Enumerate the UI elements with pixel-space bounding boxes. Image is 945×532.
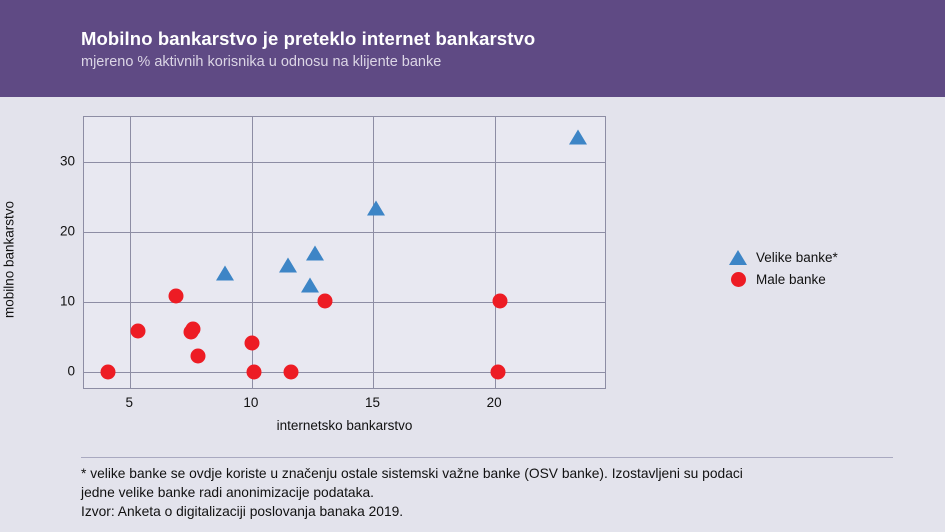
- gridline-horizontal: [84, 162, 605, 163]
- plot-area: [83, 116, 606, 389]
- data-point: [247, 364, 262, 379]
- data-point: [186, 321, 201, 336]
- data-point: [492, 294, 507, 309]
- legend-label-large-banks: Velike banke*: [756, 250, 838, 265]
- footnote-line-3: Izvor: Anketa o digitalizaciji poslovanj…: [81, 502, 881, 521]
- data-point: [301, 277, 319, 292]
- circle-marker-icon: [727, 272, 749, 287]
- gridline-horizontal: [84, 302, 605, 303]
- footnote-divider: [81, 457, 893, 458]
- gridline-vertical: [495, 117, 496, 388]
- triangle-marker-icon: [727, 250, 749, 265]
- data-point: [279, 258, 297, 273]
- gridline-horizontal: [84, 372, 605, 373]
- legend-label-small-banks: Male banke: [756, 272, 826, 287]
- data-point: [569, 130, 587, 145]
- data-point: [317, 294, 332, 309]
- footnote-line-2: jedne velike banke radi anonimizacije po…: [81, 483, 881, 502]
- chart-container: mobilno bankarstvo internetsko bankarstv…: [83, 116, 606, 389]
- data-point: [216, 265, 234, 280]
- data-point: [283, 364, 298, 379]
- y-axis-tick-label: 0: [39, 363, 75, 378]
- data-point: [244, 336, 259, 351]
- y-axis-tick-label: 30: [39, 154, 75, 169]
- y-axis-title: mobilno bankarstvo: [2, 180, 17, 340]
- x-axis-tick-label: 15: [365, 395, 380, 410]
- chart-legend: Velike banke* Male banke: [727, 246, 927, 290]
- y-axis-tick-label: 10: [39, 294, 75, 309]
- page-title: Mobilno bankarstvo je preteklo internet …: [81, 28, 535, 50]
- header-band: Mobilno bankarstvo je preteklo internet …: [0, 0, 945, 97]
- gridline-vertical: [373, 117, 374, 388]
- footnote-line-1: * velike banke se ovdje koriste u značen…: [81, 464, 881, 483]
- data-point: [101, 364, 116, 379]
- x-axis-tick-label: 10: [243, 395, 258, 410]
- footnote: * velike banke se ovdje koriste u značen…: [81, 464, 881, 521]
- data-point: [169, 289, 184, 304]
- chart-page: Mobilno bankarstvo je preteklo internet …: [0, 0, 945, 532]
- page-subtitle: mjereno % aktivnih korisnika u odnosu na…: [81, 54, 441, 70]
- gridline-vertical: [130, 117, 131, 388]
- x-axis-tick-label: 5: [125, 395, 133, 410]
- data-point: [130, 324, 145, 339]
- data-point: [306, 246, 324, 261]
- y-axis-tick-label: 20: [39, 224, 75, 239]
- legend-item-small-banks: Male banke: [727, 268, 927, 290]
- x-axis-tick-label: 20: [487, 395, 502, 410]
- data-point: [367, 200, 385, 215]
- data-point: [191, 349, 206, 364]
- x-axis-title: internetsko bankarstvo: [83, 418, 606, 433]
- gridline-horizontal: [84, 232, 605, 233]
- legend-item-large-banks: Velike banke*: [727, 246, 927, 268]
- data-point: [490, 364, 505, 379]
